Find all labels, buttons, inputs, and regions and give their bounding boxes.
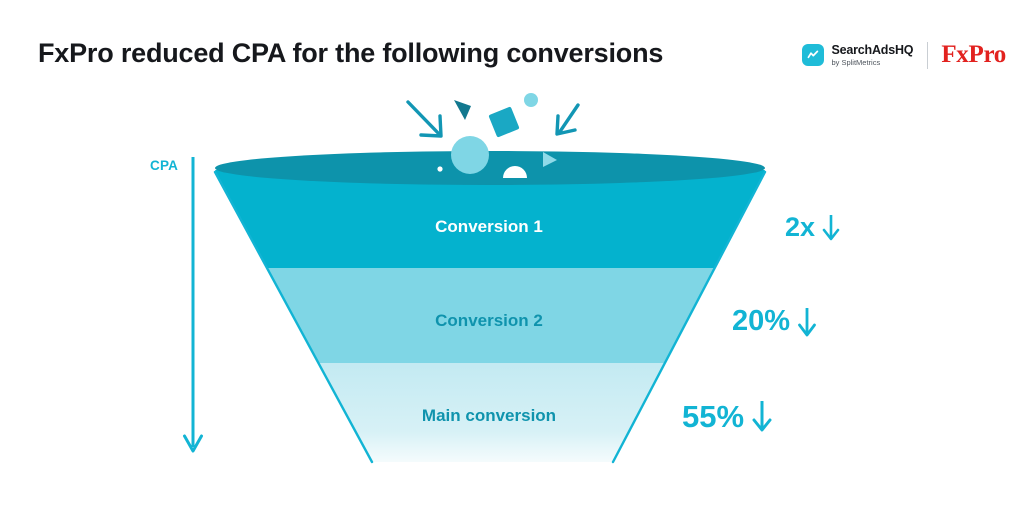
arrow-down-icon [749,398,775,434]
dot-small-icon [524,93,538,107]
arrow-down-left-icon [557,105,578,134]
funnel-label-conversion-1: Conversion 1 [435,217,543,237]
arrow-down-icon [795,305,819,338]
page-title: FxPro reduced CPA for the following conv… [38,38,663,69]
metric-value: 20% [732,307,790,336]
brand-divider [927,42,928,69]
searchadshq-tagline: by SplitMetrics [831,59,913,67]
metric-value: 55% [682,401,744,432]
arrow-down-icon [820,212,842,242]
circle-large-icon [451,136,489,174]
cpa-axis-arrow-down-icon [178,155,208,470]
searchadshq-wordmark: SearchAdsHQ by SplitMetrics [831,44,913,66]
semicircle-icon [503,166,527,178]
searchadshq-name: SearchAdsHQ [831,44,913,57]
funnel-edge-left [215,172,372,462]
cpa-axis-label: CPA [150,158,178,173]
infographic-canvas: FxPro reduced CPA for the following conv… [0,0,1024,509]
chart-line-icon [802,44,824,66]
funnel-label-conversion-2: Conversion 2 [435,311,543,331]
fxpro-logo: FxPro [941,41,1006,69]
metric-value: 2x [785,214,815,241]
diamond-icon [488,106,519,137]
arrow-down-right-icon [408,102,441,136]
funnel-label-main-conversion: Main conversion [422,406,556,426]
dot-tiny-icon [437,166,442,171]
funnel-rim-inner [215,151,765,185]
brand-bar: SearchAdsHQ by SplitMetrics FxPro [802,40,1006,70]
metric-main-conversion: 55% [682,398,775,434]
metric-conversion-2: 20% [732,305,819,338]
triangle-right-icon [543,152,557,167]
triangle-left-icon [454,100,471,120]
searchadshq-logo: SearchAdsHQ by SplitMetrics [802,44,913,66]
funnel-graphic [0,0,1024,509]
decoration-layer [408,93,578,178]
metric-conversion-1: 2x [785,212,842,242]
